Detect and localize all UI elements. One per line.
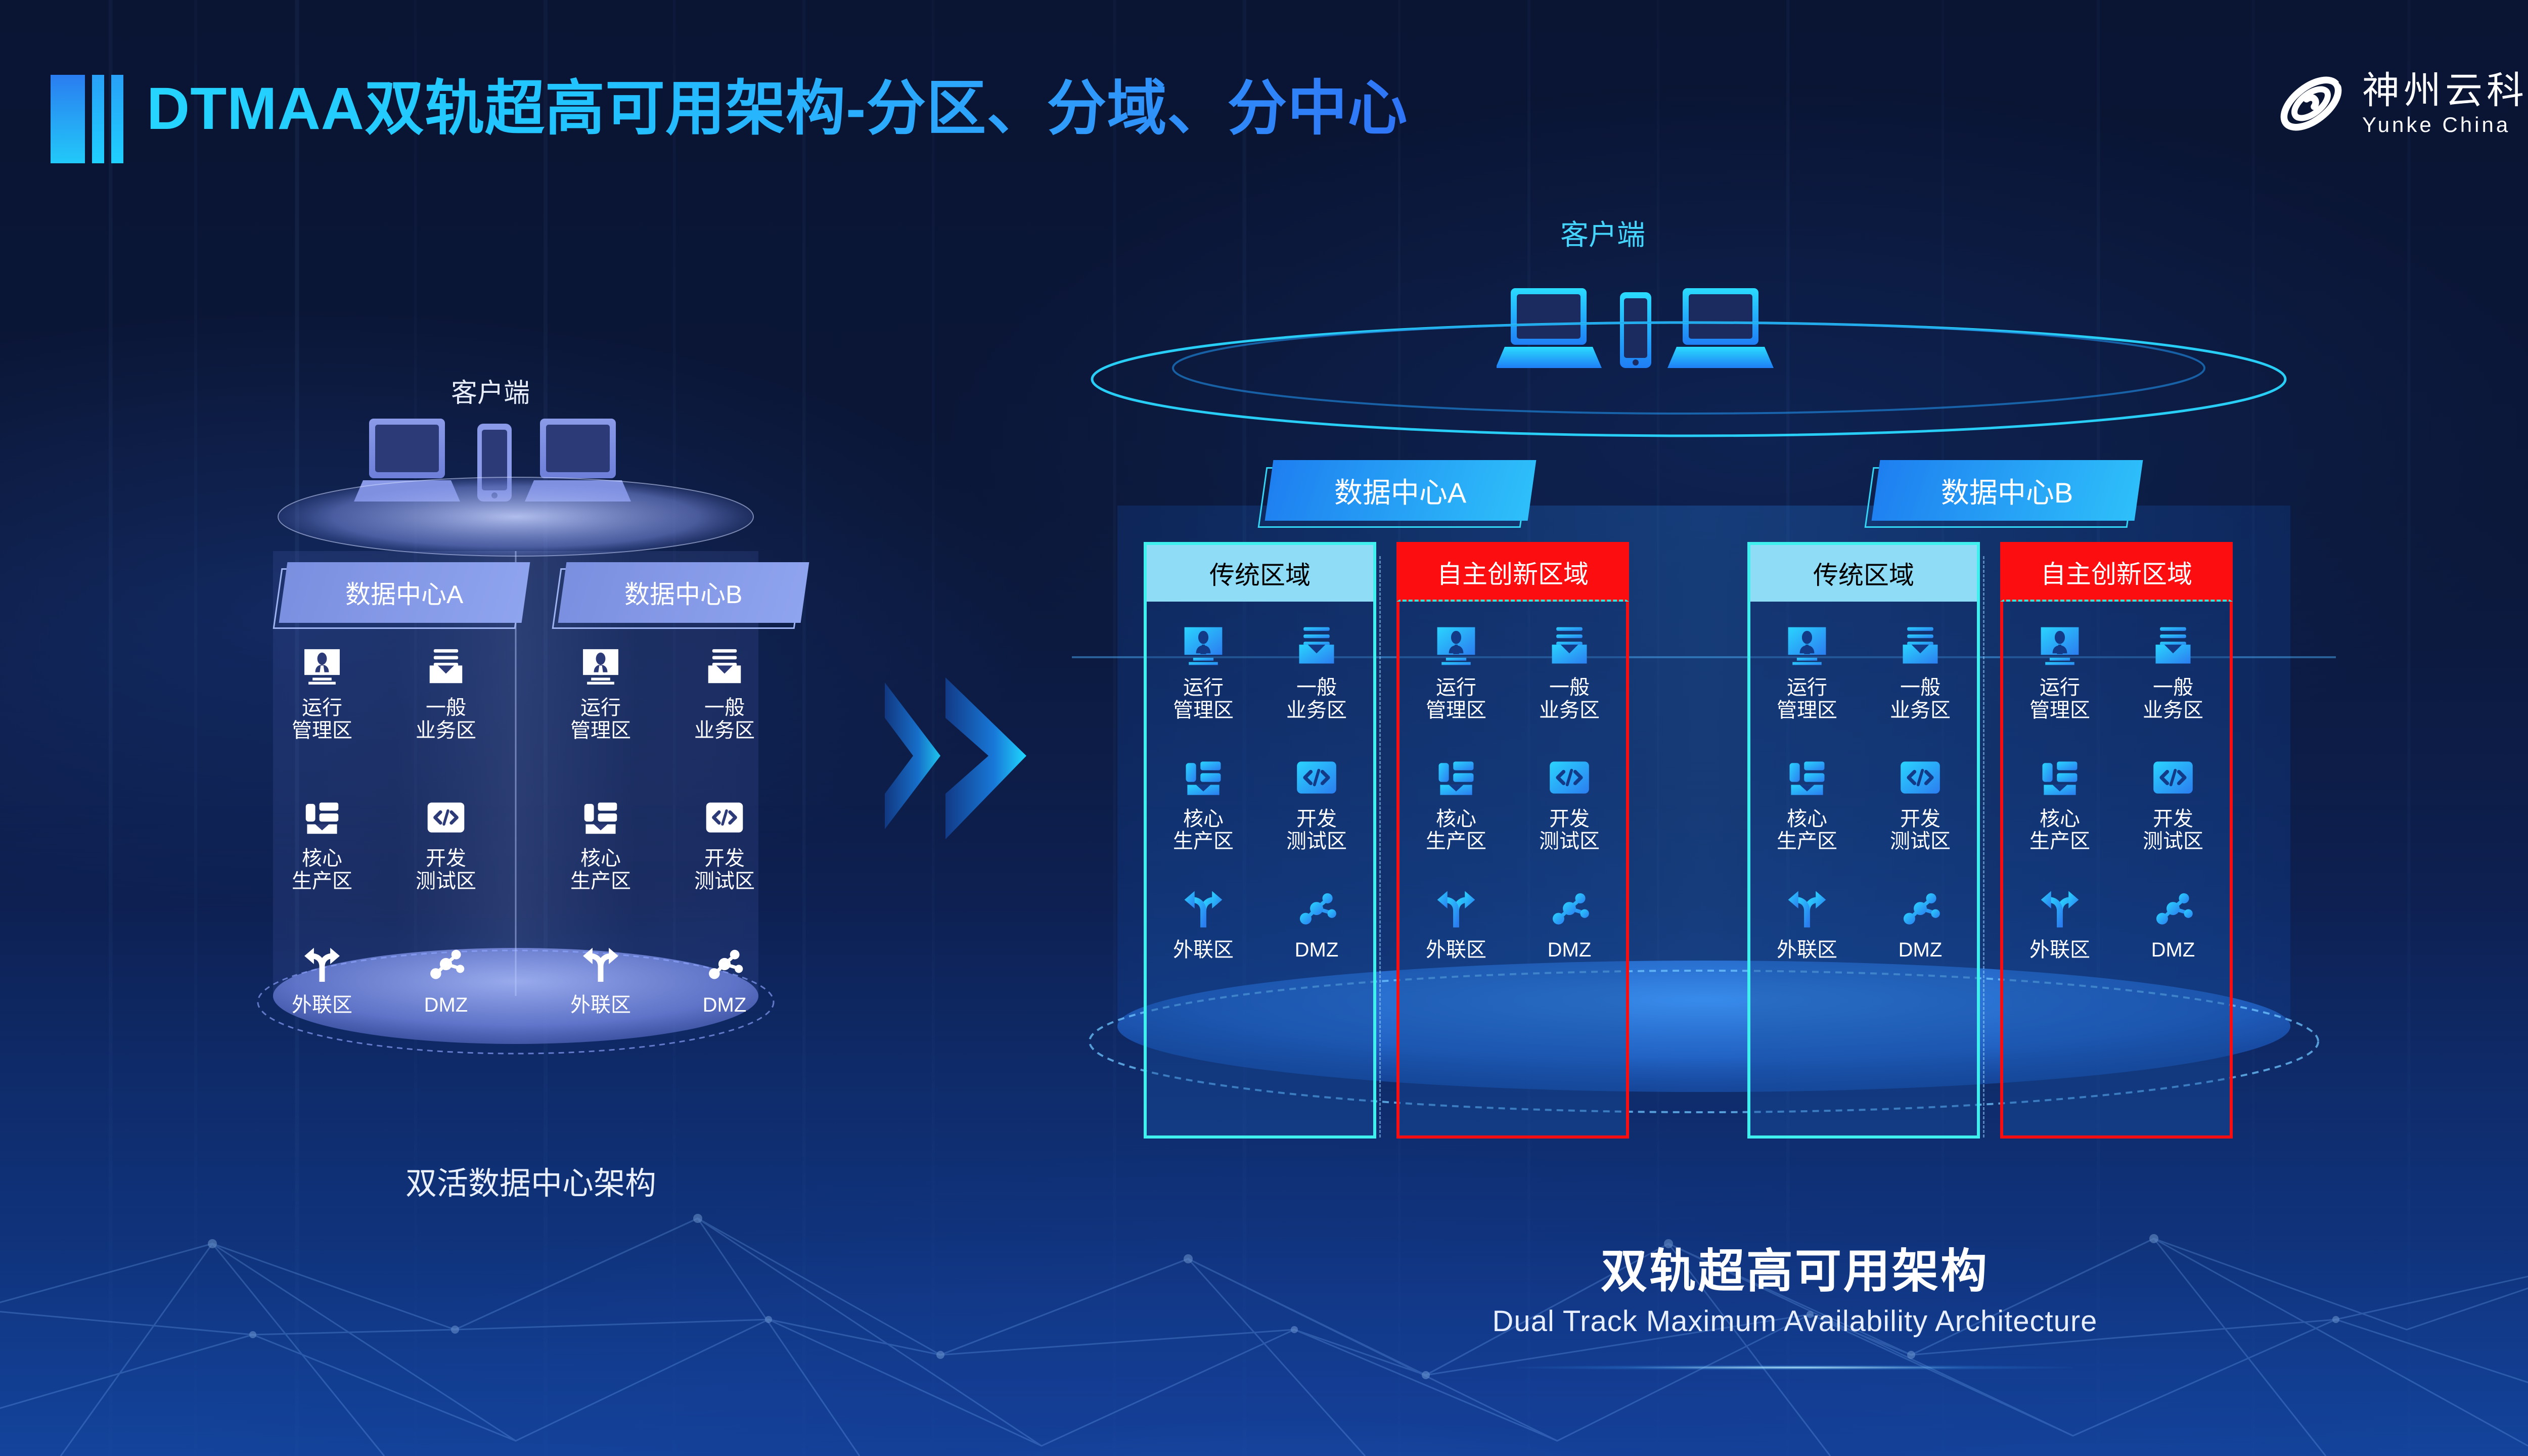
zone-label-1: 一般	[1296, 676, 1337, 699]
zone-label-2: 业务区	[694, 719, 755, 742]
zone-cell[interactable]: 运行管理区	[1750, 602, 1864, 733]
network-nodes-icon	[1260, 877, 1373, 932]
right-client-label: 客户端	[1497, 212, 1709, 253]
title-accent-bars	[51, 75, 123, 163]
zone-cell[interactable]: 开发测试区	[1260, 733, 1373, 864]
accent-bar-thin-1	[92, 75, 104, 163]
branch-arrows-icon	[1147, 877, 1260, 932]
caption-glow-underline	[1517, 1365, 2073, 1370]
left-dc-b-badge-wrap: 数据中心B	[562, 562, 805, 623]
zone-label-1: 外联区	[292, 994, 352, 1016]
network-nodes-icon	[1864, 877, 1977, 932]
panel-head-innovation: 自主创新区域	[1396, 542, 1629, 602]
monitor-person-icon	[266, 638, 378, 689]
zone-cell[interactable]: 外联区	[266, 935, 378, 1017]
zone-label-1: 外联区	[1777, 939, 1837, 961]
zone-label-1: DMZ	[424, 994, 468, 1016]
zone-cell[interactable]: 运行管理区	[1400, 602, 1513, 733]
zone-label-2: 生产区	[570, 870, 631, 892]
zone-cell[interactable]: 运行管理区	[266, 638, 378, 742]
zone-label-1: 开发	[704, 847, 745, 870]
zone-label-2: 管理区	[292, 719, 352, 742]
panel-head-label: 传统区域	[1813, 555, 1914, 591]
right-caption-en: Dual Track Maximum Availability Architec…	[1087, 1304, 2503, 1338]
server-stack-icon	[1400, 746, 1513, 801]
zone-label-1: 开发	[426, 847, 466, 870]
accent-bar-wide	[51, 75, 85, 163]
right-dc-b-badge-label: 数据中心B	[1941, 470, 2073, 511]
zone-label-2: 管理区	[1426, 699, 1486, 721]
zone-cell[interactable]: DMZ	[1864, 864, 1977, 973]
panel-body: 运行管理区 一般业务区 核心生产区	[1396, 602, 1629, 1139]
monitor-person-icon	[1147, 615, 1260, 669]
zone-cell[interactable]: DMZ	[1260, 864, 1373, 973]
zone-label-2: 测试区	[416, 870, 476, 892]
monitor-person-icon	[545, 638, 656, 689]
zone-label-1: DMZ	[703, 994, 747, 1016]
zone-label-1: 一般	[704, 697, 745, 719]
inbox-tray-icon	[390, 638, 502, 689]
panel-dc-a-innovation[interactable]: 自主创新区域 运行管理区 一般业务区	[1396, 542, 1629, 1139]
zone-label-1: 开发	[1296, 808, 1337, 830]
zone-label-1: 核心	[2040, 808, 2080, 830]
zone-cell[interactable]: 开发测试区	[390, 789, 502, 893]
zone-label-2: 生产区	[1173, 830, 1234, 852]
zone-cell[interactable]: 一般业务区	[2116, 602, 2230, 733]
right-dc-b-badge[interactable]: 数据中心B	[1872, 460, 2143, 521]
zone-label-2: 生产区	[1777, 830, 1837, 852]
zone-cell[interactable]: 外联区	[1400, 864, 1513, 973]
panel-head-label: 自主创新区域	[2041, 554, 2192, 590]
zone-label-1: 开发	[1549, 808, 1590, 830]
zone-label-2: 测试区	[694, 870, 755, 892]
zone-cell[interactable]: DMZ	[390, 935, 502, 1017]
zone-label-2: 生产区	[292, 870, 352, 892]
right-dc-a-badge[interactable]: 数据中心A	[1265, 460, 1537, 521]
zone-cell[interactable]: 一般业务区	[1260, 602, 1373, 733]
zone-cell[interactable]: 运行管理区	[1147, 602, 1260, 733]
zone-cell[interactable]: 核心生产区	[1147, 733, 1260, 864]
inbox-tray-icon	[1513, 615, 1626, 669]
panel-dc-a-traditional[interactable]: 传统区域 运行管理区 一般业务区	[1144, 542, 1376, 1139]
zone-label-1: 开发	[2153, 808, 2193, 830]
inbox-tray-icon	[2116, 615, 2230, 669]
inbox-tray-icon	[1864, 615, 1977, 669]
zone-label-2: 业务区	[416, 719, 476, 742]
zone-label-1: 核心	[302, 847, 342, 870]
slide-header: DTMAA双轨超高可用架构-分区、分域、分中心 神州云科 Yunke China	[0, 0, 2528, 172]
branch-arrows-icon	[1400, 877, 1513, 932]
slide-canvas: DTMAA双轨超高可用架构-分区、分域、分中心 神州云科 Yunke China…	[0, 0, 2528, 1456]
zone-label-1: DMZ	[1295, 939, 1339, 961]
zone-label-1: DMZ	[1899, 939, 1943, 961]
left-dc-b-badge[interactable]: 数据中心B	[558, 562, 809, 623]
zone-cell[interactable]: 运行管理区	[545, 638, 656, 742]
zone-label-2: 生产区	[2029, 830, 2090, 852]
code-window-icon	[2116, 746, 2230, 801]
zone-cell[interactable]: 开发测试区	[1513, 733, 1626, 864]
brand-logo: 神州云科 Yunke China	[2273, 66, 2528, 142]
network-nodes-icon	[390, 935, 502, 986]
inbox-tray-icon	[669, 638, 780, 689]
page-title: DTMAA双轨超高可用架构-分区、分域、分中心	[147, 60, 1408, 146]
code-window-icon	[390, 789, 502, 839]
panel-body: 运行管理区 一般业务区 核心生产区	[1144, 602, 1376, 1139]
zone-cell[interactable]: 外联区	[1147, 864, 1260, 973]
zone-label-1: DMZ	[1548, 939, 1592, 961]
zone-label-2: 业务区	[1890, 699, 1951, 721]
panel-body: 运行管理区 一般业务区 核心生产区	[1747, 602, 1980, 1139]
zone-label-2: 管理区	[1173, 699, 1234, 721]
zone-cell[interactable]: 开发测试区	[2116, 733, 2230, 864]
zone-label-1: 开发	[1900, 808, 1940, 830]
server-stack-icon	[545, 789, 656, 839]
zone-label-1: 运行	[580, 697, 621, 719]
zone-label-1: 运行	[2040, 676, 2080, 699]
monitor-person-icon	[2003, 615, 2116, 669]
zone-cell[interactable]: 核心生产区	[545, 789, 656, 893]
left-client-label: 客户端	[420, 372, 561, 409]
code-window-icon	[1864, 746, 1977, 801]
zone-cell[interactable]: 核心生产区	[2003, 733, 2116, 864]
zone-label-1: 一般	[1549, 676, 1590, 699]
branch-arrows-icon	[2003, 877, 2116, 932]
zone-label-1: 核心	[1787, 808, 1827, 830]
zone-cell[interactable]: 一般业务区	[669, 638, 780, 742]
zone-label-1: 核心	[1183, 808, 1224, 830]
panel-dc-b-traditional[interactable]: 传统区域 运行管理区 一般业务区	[1747, 542, 1980, 1139]
panel-dc-b-innovation[interactable]: 自主创新区域 运行管理区 一般业务区	[2000, 542, 2233, 1139]
panel-body: 运行管理区 一般业务区 核心生产区	[2000, 602, 2233, 1139]
zone-cell[interactable]: 一般业务区	[1513, 602, 1626, 733]
zone-cell[interactable]: 开发测试区	[669, 789, 780, 893]
right-dc-b-badge-wrap: 数据中心B	[1876, 460, 2139, 521]
zone-label-2: 业务区	[1539, 699, 1600, 721]
left-dc-a-badge-label: 数据中心A	[345, 574, 463, 611]
branch-arrows-icon	[545, 935, 656, 986]
server-stack-icon	[1750, 746, 1864, 801]
zone-cell[interactable]: 核心生产区	[266, 789, 378, 893]
zone-cell[interactable]: 核心生产区	[1400, 733, 1513, 864]
code-window-icon	[1260, 746, 1373, 801]
zone-cell[interactable]: 外联区	[1750, 864, 1864, 973]
panel-divider-a	[1379, 556, 1381, 1137]
left-dc-a-badge-wrap: 数据中心A	[283, 562, 526, 623]
zone-label-1: DMZ	[2151, 939, 2195, 961]
zone-label-1: 运行	[1787, 676, 1827, 699]
panel-head-innovation: 自主创新区域	[2000, 542, 2233, 602]
branch-arrows-icon	[266, 935, 378, 986]
logo-text-en: Yunke China	[2362, 114, 2528, 135]
zone-cell[interactable]: 外联区	[2003, 864, 2116, 973]
zone-label-1: 核心	[580, 847, 621, 870]
code-window-icon	[1513, 746, 1626, 801]
code-window-icon	[669, 789, 780, 839]
panel-divider-b	[1983, 556, 1984, 1137]
zone-cell[interactable]: 运行管理区	[2003, 602, 2116, 733]
panel-head-label: 自主创新区域	[1437, 554, 1589, 590]
zone-label-1: 外联区	[2029, 939, 2090, 961]
right-dc-a-badge-label: 数据中心A	[1334, 470, 1466, 511]
zone-cell[interactable]: 外联区	[545, 935, 656, 1017]
monitor-person-icon	[1400, 615, 1513, 669]
zone-label-2: 管理区	[570, 719, 631, 742]
network-nodes-icon	[669, 935, 780, 986]
zone-label-1: 外联区	[1173, 939, 1234, 961]
zone-label-1: 一般	[426, 697, 466, 719]
branch-arrows-icon	[1750, 877, 1864, 932]
right-caption-cn: 双轨超高可用架构	[1087, 1234, 2503, 1301]
left-dc-a-badge[interactable]: 数据中心A	[279, 562, 530, 623]
right-dc-a-badge-wrap: 数据中心A	[1269, 460, 1532, 521]
zone-label-2: 测试区	[1539, 830, 1600, 852]
zone-label-2: 业务区	[1286, 699, 1347, 721]
zone-label-2: 测试区	[1286, 830, 1347, 852]
zone-label-1: 一般	[1900, 676, 1940, 699]
zone-cell[interactable]: 开发测试区	[1864, 733, 1977, 864]
network-nodes-icon	[2116, 877, 2230, 932]
zone-label-2: 测试区	[2143, 830, 2203, 852]
zone-cell[interactable]: DMZ	[2116, 864, 2230, 973]
monitor-person-icon	[1750, 615, 1864, 669]
swirl-logo-icon	[2273, 66, 2349, 142]
zone-label-2: 测试区	[1890, 830, 1951, 852]
left-caption: 双活数据中心架构	[217, 1158, 844, 1203]
panel-head-traditional: 传统区域	[1144, 542, 1376, 602]
zone-label-1: 核心	[1436, 808, 1476, 830]
zone-label-1: 外联区	[1426, 939, 1486, 961]
zone-label-2: 管理区	[1777, 699, 1837, 721]
zone-label-1: 运行	[1183, 676, 1224, 699]
zone-cell[interactable]: 核心生产区	[1750, 733, 1864, 864]
panel-head-traditional: 传统区域	[1747, 542, 1980, 602]
zone-cell[interactable]: DMZ	[1513, 864, 1626, 973]
double-chevron-right-icon	[880, 667, 1062, 849]
logo-text-cn: 神州云科	[2362, 72, 2528, 109]
inbox-tray-icon	[1260, 615, 1373, 669]
right-client-platform	[1082, 313, 2295, 445]
panel-head-label: 传统区域	[1209, 555, 1311, 591]
zone-label-1: 一般	[2153, 676, 2193, 699]
left-dc-b-badge-label: 数据中心B	[624, 574, 742, 611]
server-stack-icon	[266, 789, 378, 839]
zone-label-1: 运行	[302, 697, 342, 719]
zone-cell[interactable]: 一般业务区	[390, 638, 502, 742]
zone-label-1: 外联区	[570, 994, 631, 1016]
server-stack-icon	[1147, 746, 1260, 801]
zone-cell[interactable]: DMZ	[669, 935, 780, 1017]
zone-label-2: 业务区	[2143, 699, 2203, 721]
server-stack-icon	[2003, 746, 2116, 801]
zone-label-1: 运行	[1436, 676, 1476, 699]
accent-bar-thin-2	[111, 75, 123, 163]
zone-label-2: 生产区	[1426, 830, 1486, 852]
zone-cell[interactable]: 一般业务区	[1864, 602, 1977, 733]
zone-label-2: 管理区	[2029, 699, 2090, 721]
network-nodes-icon	[1513, 877, 1626, 932]
